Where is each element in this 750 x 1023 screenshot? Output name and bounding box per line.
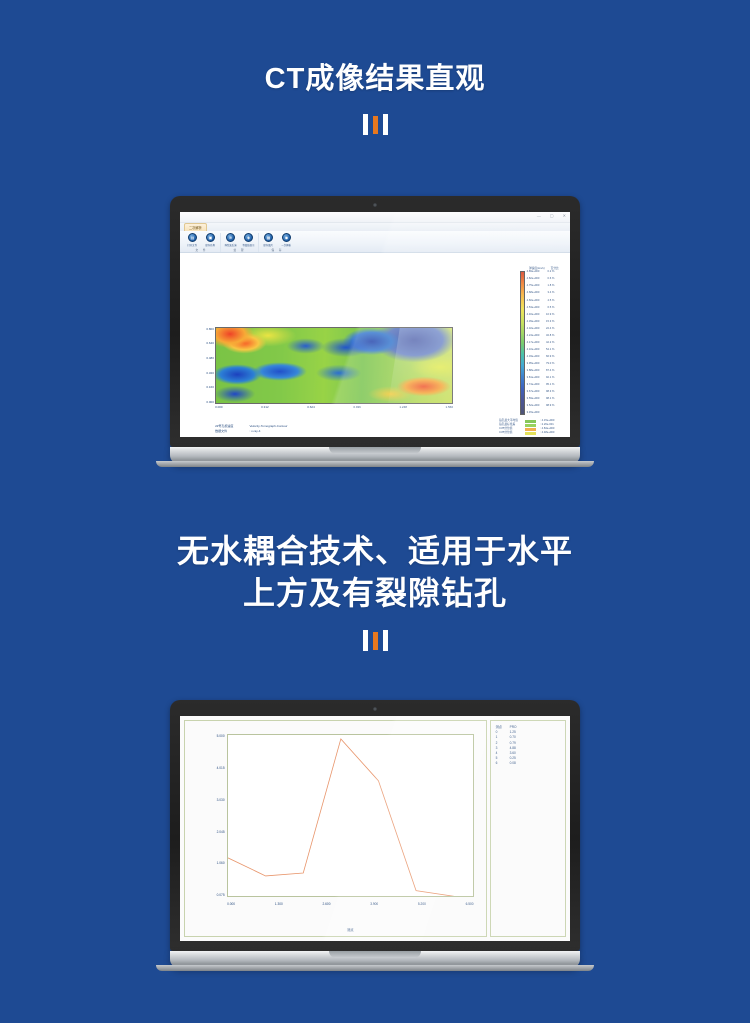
colorbar-entry-value: 3.81e+000 [527, 377, 540, 380]
x-tick: 1.300 [275, 902, 283, 906]
colorbar-entry: 4.60e+0004.5 % [527, 300, 555, 303]
colorbar-entry-pct: 6.5 % [544, 307, 554, 310]
colorbar-entry-value: 4.03e+000 [527, 356, 540, 359]
colorbar-entry-pct: 42.2 % [544, 342, 554, 345]
y-axis-ticks-2: 5.000 4.015 3.030 2.045 1.060 0.075 [202, 734, 224, 897]
colorbar-entry-value: 3.74e+000 [527, 384, 540, 387]
ribbon-group-save-title: 保 存 [272, 248, 284, 252]
open-file-button[interactable]: ▤ 打开文件 [185, 233, 200, 247]
colorbar-entry-pct: 4.5 % [544, 300, 554, 303]
x-tick: 0.000 [227, 902, 235, 906]
colorbar-entry-pct: 1.8 % [544, 285, 554, 288]
colorbar-entry: 3.45e+000 [527, 412, 555, 415]
webcam-icon [373, 707, 377, 711]
colorbar-entry: 4.10e+00054.1 % [527, 349, 555, 352]
laptop-screen-1: — ▢ ✕ 二次解析 ▤ 打开文件 [180, 212, 570, 437]
divider-bar-accent [373, 116, 378, 134]
colorbar-entry: 4.89e+0000.2 % [527, 271, 555, 274]
colorbar-entry-pct: 0.2 % [544, 271, 554, 274]
window-titlebar: — ▢ ✕ [180, 212, 570, 223]
tomograph-canvas: 0.800 0.640 0.480 0.320 0.160 0.000 0.00… [180, 253, 570, 437]
x-axis-ticks-2: 0.000 1.300 2.600 3.900 5.200 6.500 [227, 902, 474, 906]
colorbar-entry: 3.95e+00079.0 % [527, 363, 555, 366]
laptop-mockup-2: PRO 5.000 4.015 3.030 2.045 1.060 0.075 [170, 700, 580, 968]
y-tick: 1.060 [217, 861, 225, 865]
colorbar-entry-pct: 98.3 % [544, 391, 554, 394]
colorbar-entry-value: 4.60e+000 [527, 300, 540, 303]
laptop-mockup-1: — ▢ ✕ 二次解析 ▤ 打开文件 [170, 196, 580, 464]
ribbon-group-process: ≋ 弹性波反演 ◈ 等值线显示 处 理 [221, 233, 259, 252]
y-tick: 0.075 [217, 893, 225, 897]
analyze-icon: ◉ [282, 233, 291, 242]
colorbar-entry-pct: 79.0 % [544, 363, 554, 366]
laptop-lid-1: — ▢ ✕ 二次解析 ▤ 打开文件 [170, 196, 580, 447]
colorbar-entry: 4.82e+0000.6 % [527, 278, 555, 281]
colorbar-entry-pct: 87.4 % [544, 370, 554, 373]
plot-footer-info: 2#号孔视速度 数据文件 Velocity-Tomograph-Contour … [215, 424, 287, 433]
colorbar-entry-pct: 0.6 % [544, 278, 554, 281]
ct-software-window: — ▢ ✕ 二次解析 ▤ 打开文件 [180, 212, 570, 437]
data-table-panel: 测点 PRO 01.2510.7020.7934.8843.6050.2560.… [490, 720, 566, 937]
table-body: 01.2510.7020.7934.8843.6050.2560.08 [496, 730, 560, 766]
y-tick: 2.045 [217, 830, 225, 834]
ribbon-group-save: ▦ 保存图片 ◉ 一次解析 保 存 [259, 233, 296, 252]
page-title-2-line1: 无水耦合技术、适用于水平 [0, 530, 750, 572]
folder-open-icon: ▤ [188, 233, 197, 242]
x-tick: 6.500 [466, 902, 474, 906]
colorbar-entry-value: 4.10e+000 [527, 349, 540, 352]
y-axis-ticks-1: 0.800 0.640 0.480 0.320 0.160 0.000 [197, 327, 214, 404]
table-cell-pro: 0.08 [510, 761, 524, 766]
x-axis-label-2: 测点 [227, 927, 474, 932]
section-2-header: 无水耦合技术、适用于水平 上方及有裂隙钻孔 [0, 530, 750, 651]
colorbar-entry: 3.67e+00098.3 % [527, 391, 555, 394]
contour-overlay-region [388, 328, 452, 403]
ribbon-toolbar: ▤ 打开文件 ▣ 保存名称 文 件 [180, 231, 570, 253]
close-icon[interactable]: ✕ [563, 214, 566, 218]
x-tick: 1.248 [399, 405, 407, 409]
webcam-icon [373, 203, 377, 207]
x-tick: 2.600 [322, 902, 330, 906]
colorbar-entry: 4.03e+00066.9 % [527, 356, 555, 359]
footer-label-2: 数据文件 [215, 429, 233, 434]
colorbar-gradient [520, 271, 525, 415]
colorbar-entry-pct: 66.9 % [544, 356, 554, 359]
statistics-legend: 钻孔最大平均值: 4.15e+000钻孔最标准差: 2.26e-0010.85分… [499, 419, 554, 435]
colorbar-entry-value: 4.32e+000 [527, 328, 540, 331]
colorbar-entry: 3.88e+00087.4 % [527, 370, 555, 373]
velocity-tomograph-plot: 0.800 0.640 0.480 0.320 0.160 0.000 0.00… [215, 327, 453, 404]
colorbar-entry-pct: 95.1 % [544, 384, 554, 387]
statistics-legend-value: : 4.48e+000 [540, 431, 554, 435]
ribbon-group-file-title: 文 件 [196, 248, 208, 252]
colorbar-entry: 4.46e+00010.9 % [527, 314, 555, 317]
colorbar-entry-value: 3.95e+000 [527, 363, 540, 366]
laptop-base-lip-1 [156, 461, 594, 467]
save-image-label: 保存图片 [264, 243, 274, 247]
colorbar-legend: 弹速度(km/s) 百分比 4.89e+0000.2 %4.82e+0000.6… [520, 271, 554, 415]
save-image-button[interactable]: ▦ 保存图片 [261, 233, 276, 247]
colorbar-header: 弹速度(km/s) 百分比 [529, 266, 559, 270]
colorbar-entry: 4.17e+00042.2 % [527, 342, 555, 345]
colorbar-entry: 4.32e+00022.4 % [527, 328, 555, 331]
colorbar-entry-value: 4.46e+000 [527, 314, 540, 317]
colorbar-entry-value: 4.24e+000 [527, 335, 540, 338]
colorbar-entry-value: 4.17e+000 [527, 342, 540, 345]
save-icon: ▣ [206, 233, 215, 242]
image-icon: ▦ [264, 233, 273, 242]
colorbar-entry-pct: 22.4 % [544, 328, 554, 331]
colorbar-entry-value: 4.75e+000 [527, 285, 540, 288]
elastic-wave-inversion-button[interactable]: ≋ 弹性波反演 [223, 233, 238, 247]
y-tick: 0.480 [206, 356, 214, 360]
chart-panel: PRO 5.000 4.015 3.030 2.045 1.060 0.075 [184, 720, 487, 937]
footer-value-2: : x-ray-4 [249, 429, 287, 434]
divider-bar-right [383, 630, 388, 651]
colorbar-entry-value: 4.82e+000 [527, 278, 540, 281]
laptop-base-lip-2 [156, 965, 594, 971]
colorbar-entry: 3.81e+00092.1 % [527, 377, 555, 380]
footer-values: Velocity-Tomograph-Contour : x-ray-4 [249, 424, 287, 433]
colorbar-header-pct: 百分比 [551, 266, 559, 270]
tab-secondary-analysis[interactable]: 二次解析 [184, 223, 207, 231]
statistics-legend-swatch [525, 420, 536, 423]
table-row: 60.08 [496, 761, 560, 766]
save-name-label: 保存名称 [206, 243, 216, 247]
colorbar-entry-value: 3.67e+000 [527, 391, 540, 394]
colorbar-entry-value: 4.89e+000 [527, 271, 540, 274]
primary-analysis-label: 一次解析 [282, 243, 292, 247]
y-tick: 0.160 [206, 385, 214, 389]
pro-data-table: 测点 PRO 01.2510.7020.7934.8843.6050.2560.… [496, 725, 560, 767]
divider-bar-left [363, 630, 368, 651]
x-tick: 0.936 [353, 405, 361, 409]
x-tick: 5.200 [418, 902, 426, 906]
x-tick: 0.312 [261, 405, 269, 409]
primary-analysis-button[interactable]: ◉ 一次解析 [279, 233, 294, 247]
table-cell-index: 6 [496, 761, 503, 766]
divider-bar-left [363, 114, 368, 135]
colorbar-entry-value: 4.53e+000 [527, 307, 540, 310]
colorbar-entry: 4.39e+00015.3 % [527, 321, 555, 324]
contour-icon: ◈ [244, 233, 253, 242]
colorbar-entry: 4.24e+00032.8 % [527, 335, 555, 338]
y-tick: 4.015 [217, 766, 225, 770]
y-tick: 0.800 [206, 327, 214, 331]
colorbar-entry: 3.52e+00098.9 % [527, 405, 555, 408]
wave-icon: ≋ [226, 233, 235, 242]
colorbar-entry-value: 4.68e+000 [527, 292, 540, 295]
colorbar-entry-pct: 98.1 % [544, 398, 554, 401]
colorbar-entry-pct [544, 412, 554, 415]
colorbar-entry-value: 3.59e+000 [527, 398, 540, 401]
colorbar-header-value: 弹速度(km/s) [529, 266, 545, 270]
colorbar-entry-value: 4.39e+000 [527, 321, 540, 324]
statistics-legend-label: 0.85分位值 [499, 431, 521, 435]
colorbar-entry: 3.74e+00095.1 % [527, 384, 555, 387]
divider-ornament-2 [0, 630, 750, 651]
divider-ornament-1 [0, 114, 750, 135]
ribbon-tab-bar: 二次解析 [180, 223, 570, 231]
y-tick: 0.640 [206, 341, 214, 345]
page-title-2-line2: 上方及有裂隙钻孔 [0, 572, 750, 614]
statistics-legend-swatch [525, 424, 536, 427]
laptop-base-1 [170, 447, 580, 464]
x-tick: 0.624 [307, 405, 315, 409]
colorbar-entry: 4.68e+0003.4 % [527, 292, 555, 295]
contour-display-button[interactable]: ◈ 等值线显示 [241, 233, 256, 247]
chart-plot-area [227, 734, 474, 897]
maximize-icon[interactable]: ▢ [550, 214, 554, 218]
save-name-button[interactable]: ▣ 保存名称 [203, 233, 218, 247]
colorbar-entry-pct: 98.9 % [544, 405, 554, 408]
y-tick: 0.320 [206, 371, 214, 375]
contour-display-label: 等值线显示 [243, 243, 255, 247]
laptop-base-2 [170, 951, 580, 968]
colorbar-entry-value: 3.88e+000 [527, 370, 540, 373]
page-title-1: CT成像结果直观 [0, 60, 750, 98]
statistics-legend-swatch [525, 432, 536, 435]
divider-bar-accent [373, 632, 378, 650]
ribbon-group-process-title: 处 理 [234, 248, 246, 252]
y-tick: 5.000 [217, 734, 225, 738]
line-series-svg [228, 735, 473, 896]
divider-bar-right [383, 114, 388, 135]
pro-line-chart: PRO 5.000 4.015 3.030 2.045 1.060 0.075 [227, 734, 474, 897]
colorbar-entry: 4.53e+0006.5 % [527, 307, 555, 310]
laptop-screen-2: PRO 5.000 4.015 3.030 2.045 1.060 0.075 [180, 716, 570, 941]
colorbar-entry-pct: 92.1 % [544, 377, 554, 380]
x-axis-ticks-1: 0.000 0.312 0.624 0.936 1.248 1.560 [215, 405, 453, 409]
contour-heatmap [215, 327, 453, 404]
laptop-lid-2: PRO 5.000 4.015 3.030 2.045 1.060 0.075 [170, 700, 580, 951]
pro-chart-window: PRO 5.000 4.015 3.030 2.045 1.060 0.075 [180, 716, 570, 941]
colorbar-entry: 4.75e+0001.8 % [527, 285, 555, 288]
colorbar-value-list: 4.89e+0000.2 %4.82e+0000.6 %4.75e+0001.8… [527, 271, 555, 415]
colorbar-entry: 3.59e+00098.1 % [527, 398, 555, 401]
y-tick: 0.000 [206, 400, 214, 404]
pro-series-line [228, 739, 454, 896]
colorbar-entry-pct: 10.9 % [544, 314, 554, 317]
y-tick: 3.030 [217, 798, 225, 802]
footer-labels: 2#号孔视速度 数据文件 [215, 424, 233, 433]
x-tick: 1.560 [445, 405, 453, 409]
elastic-wave-label: 弹性波反演 [225, 243, 237, 247]
ribbon-group-file: ▤ 打开文件 ▣ 保存名称 文 件 [183, 233, 221, 252]
statistics-legend-swatch [525, 428, 536, 431]
statistics-legend-row: 0.85分位值: 4.48e+000 [499, 431, 554, 435]
open-file-label: 打开文件 [188, 243, 198, 247]
colorbar-entry-value: 3.45e+000 [527, 412, 540, 415]
colorbar-entry-pct: 32.8 % [544, 335, 554, 338]
minimize-icon[interactable]: — [537, 214, 541, 218]
x-tick: 0.000 [215, 405, 223, 409]
x-tick: 3.900 [370, 902, 378, 906]
section-1-header: CT成像结果直观 [0, 60, 750, 135]
colorbar-entry-value: 3.52e+000 [527, 405, 540, 408]
colorbar-entry-pct: 15.3 % [544, 321, 554, 324]
colorbar-entry-pct: 54.1 % [544, 349, 554, 352]
colorbar-entry-pct: 3.4 % [544, 292, 554, 295]
